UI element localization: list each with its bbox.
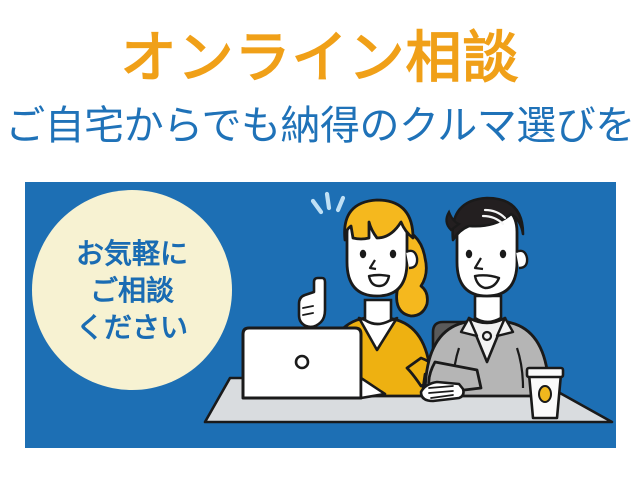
page-title: オンライン相談	[0, 27, 640, 89]
consultation-badge: お気軽に ご相談 ください	[32, 190, 232, 390]
headline-area: オンライン相談 ご自宅からでも納得のクルマ選びを	[0, 0, 640, 178]
online-consultation-banner: オンライン相談 ご自宅からでも納得のクルマ選びを	[0, 0, 640, 480]
sparkle-icon	[313, 194, 343, 212]
page-subtitle: ご自宅からでも納得のクルマ選びを	[0, 103, 640, 149]
coffee-cup-illustration	[527, 368, 563, 418]
illustration-panel: お気軽に ご相談 ください	[25, 182, 616, 448]
badge-line-3: ください	[76, 309, 188, 346]
badge-line-1: お気軽に	[76, 235, 188, 272]
badge-line-2: ご相談	[90, 272, 174, 309]
